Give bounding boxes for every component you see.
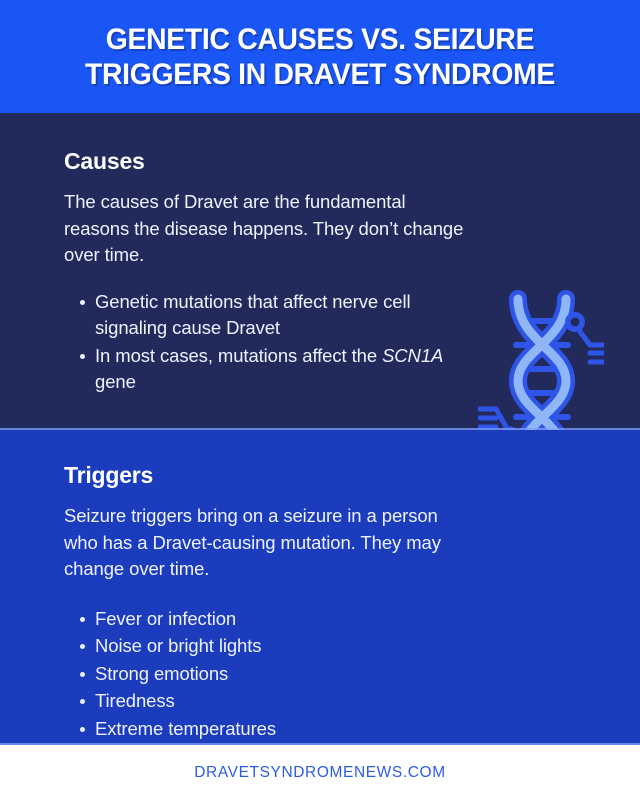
list-item: In most cases, mutations affect the SCN1… xyxy=(64,343,464,396)
page-title: GENETIC CAUSES VS. SEIZURE TRIGGERS IN D… xyxy=(51,22,589,92)
causes-bullet-list: Genetic mutations that affect nerve cell… xyxy=(64,289,464,396)
causes-section: Causes The causes of Dravet are the fund… xyxy=(0,113,640,430)
dna-helix-icon xyxy=(478,289,604,430)
list-item: Genetic mutations that affect nerve cell… xyxy=(64,289,464,342)
causes-body: The causes of Dravet are the fundamental… xyxy=(64,189,464,269)
footer-bar: DRAVETSYNDROMENEWS.COM xyxy=(0,745,640,800)
causes-heading: Causes xyxy=(64,148,464,175)
list-item: Fever or infection xyxy=(64,606,464,633)
list-item: Tiredness xyxy=(64,688,464,715)
triggers-heading: Triggers xyxy=(64,462,464,489)
triggers-body: Seizure triggers bring on a seizure in a… xyxy=(64,503,464,583)
gene-name: SCN1A xyxy=(382,345,443,366)
list-item: Strong emotions xyxy=(64,661,464,688)
infographic-page: GENETIC CAUSES VS. SEIZURE TRIGGERS IN D… xyxy=(0,0,640,800)
triggers-text-block: Triggers Seizure triggers bring on a sei… xyxy=(64,462,464,743)
triggers-section: Triggers Seizure triggers bring on a sei… xyxy=(0,430,640,745)
site-url-link[interactable]: DRAVETSYNDROMENEWS.COM xyxy=(194,764,445,782)
list-item: Extreme temperatures xyxy=(64,716,464,743)
list-item: Noise or bright lights xyxy=(64,633,464,660)
header-banner: GENETIC CAUSES VS. SEIZURE TRIGGERS IN D… xyxy=(0,0,640,113)
triggers-bullet-list: Fever or infectionNoise or bright lights… xyxy=(64,606,464,743)
causes-text-block: Causes The causes of Dravet are the fund… xyxy=(64,148,464,397)
